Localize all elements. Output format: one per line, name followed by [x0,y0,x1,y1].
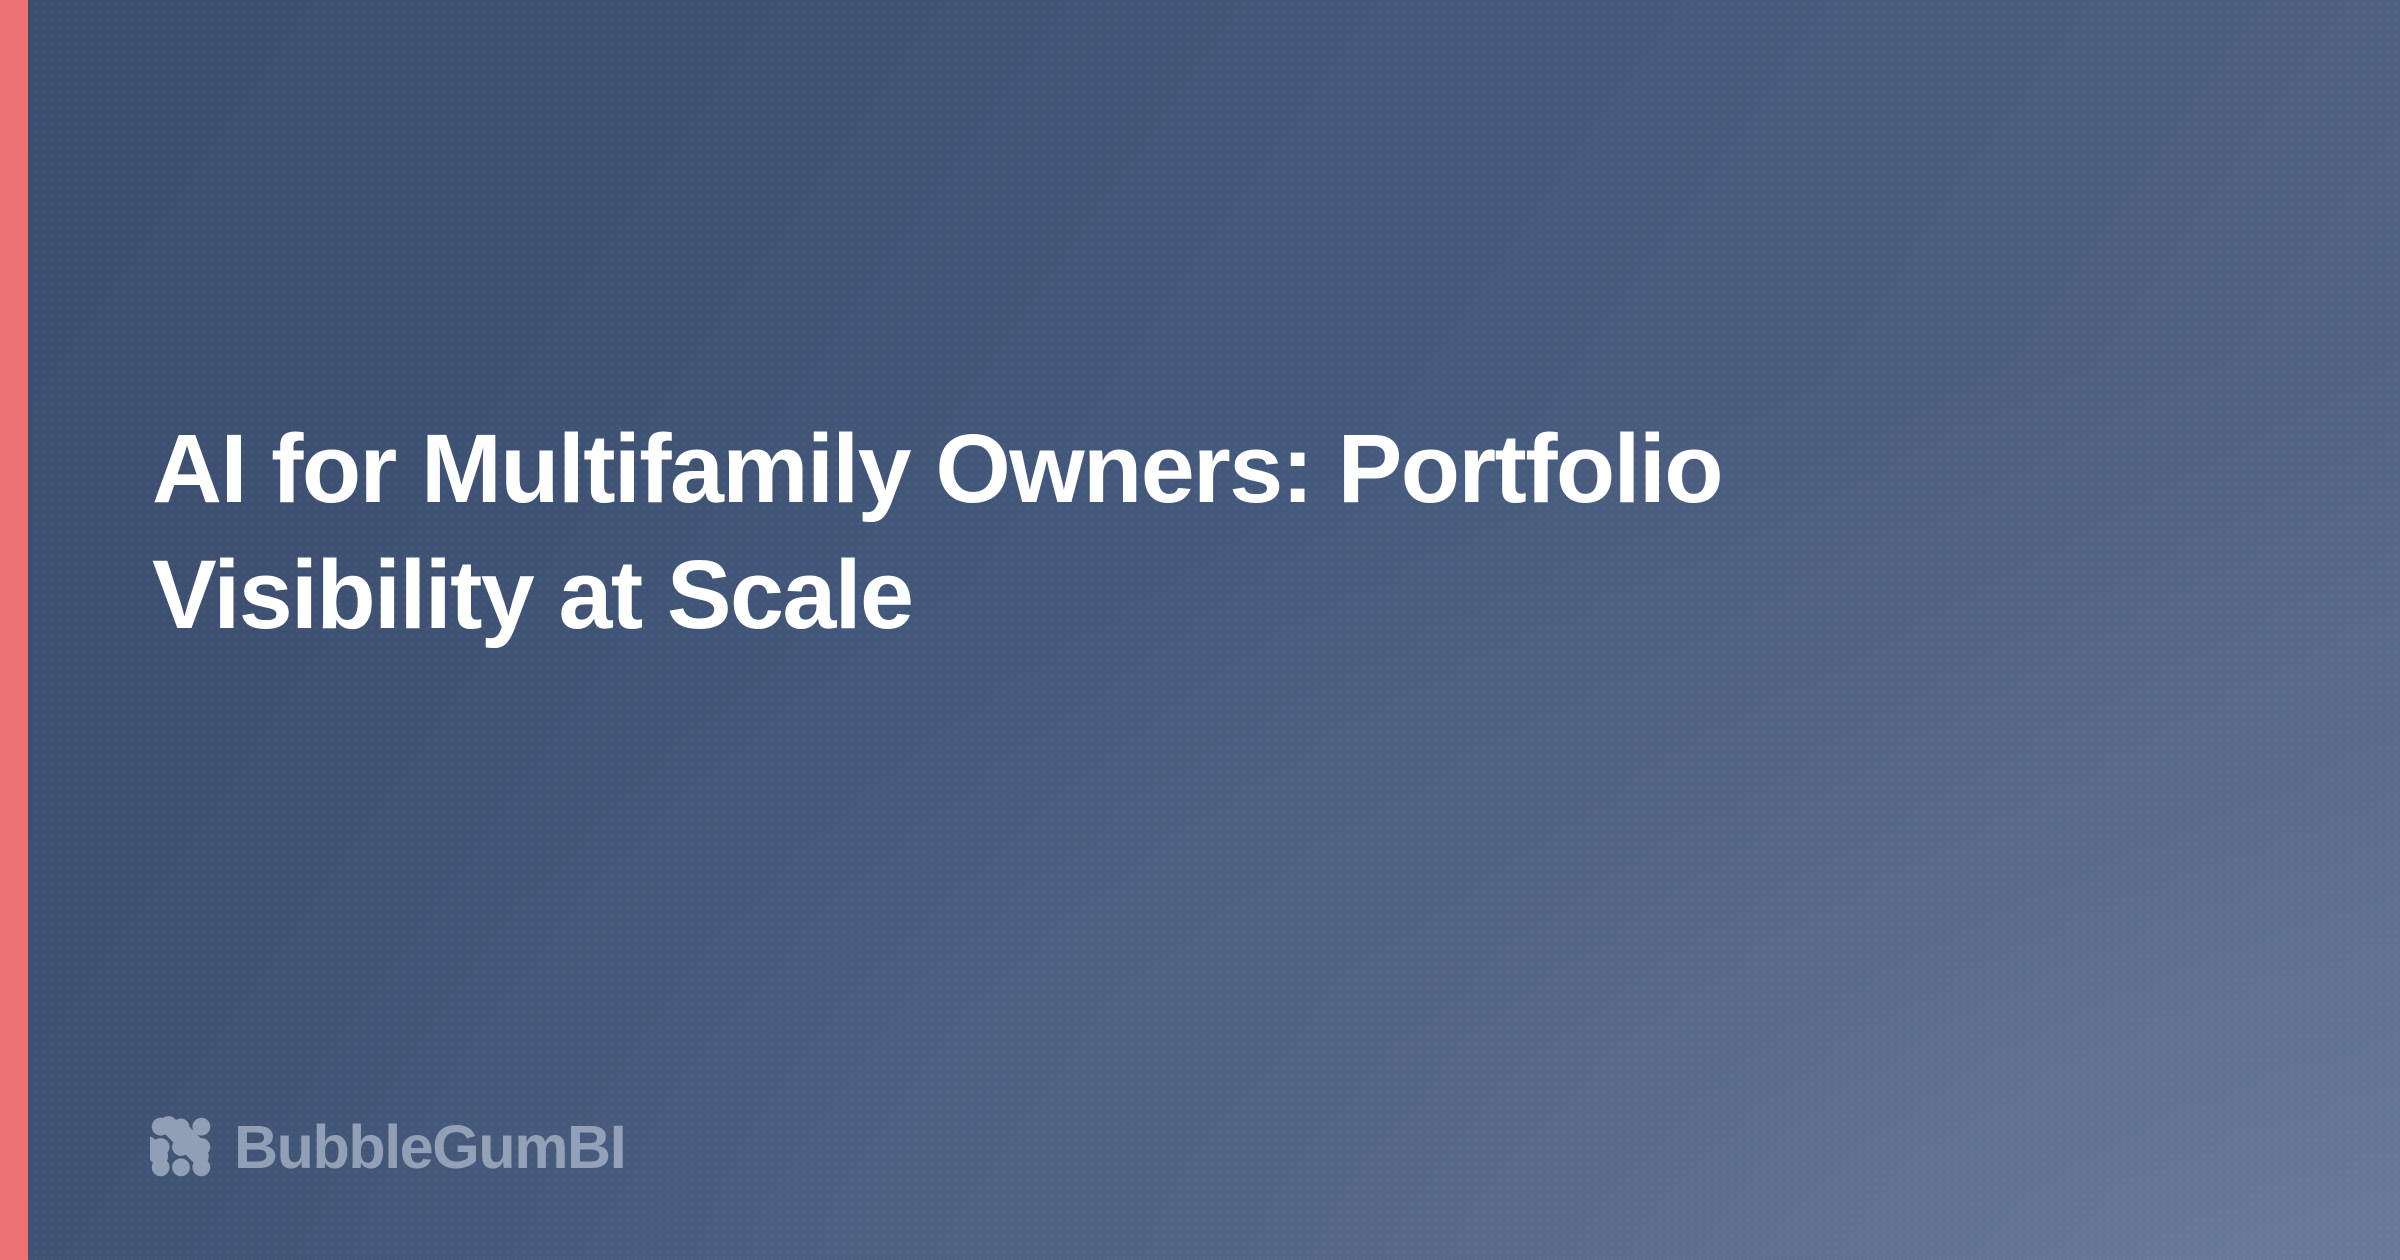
slide-content: AI for Multifamily Owners: Portfolio Vis… [0,0,2400,1260]
left-accent-bar [0,0,28,1260]
dot-grid-logo-icon [150,1116,212,1178]
title-slide: AI for Multifamily Owners: Portfolio Vis… [0,0,2400,1260]
brand-lockup: BubbleGumBI [150,1116,625,1178]
slide-title: AI for Multifamily Owners: Portfolio Vis… [152,406,2012,658]
brand-name: BubbleGumBI [234,1117,625,1178]
